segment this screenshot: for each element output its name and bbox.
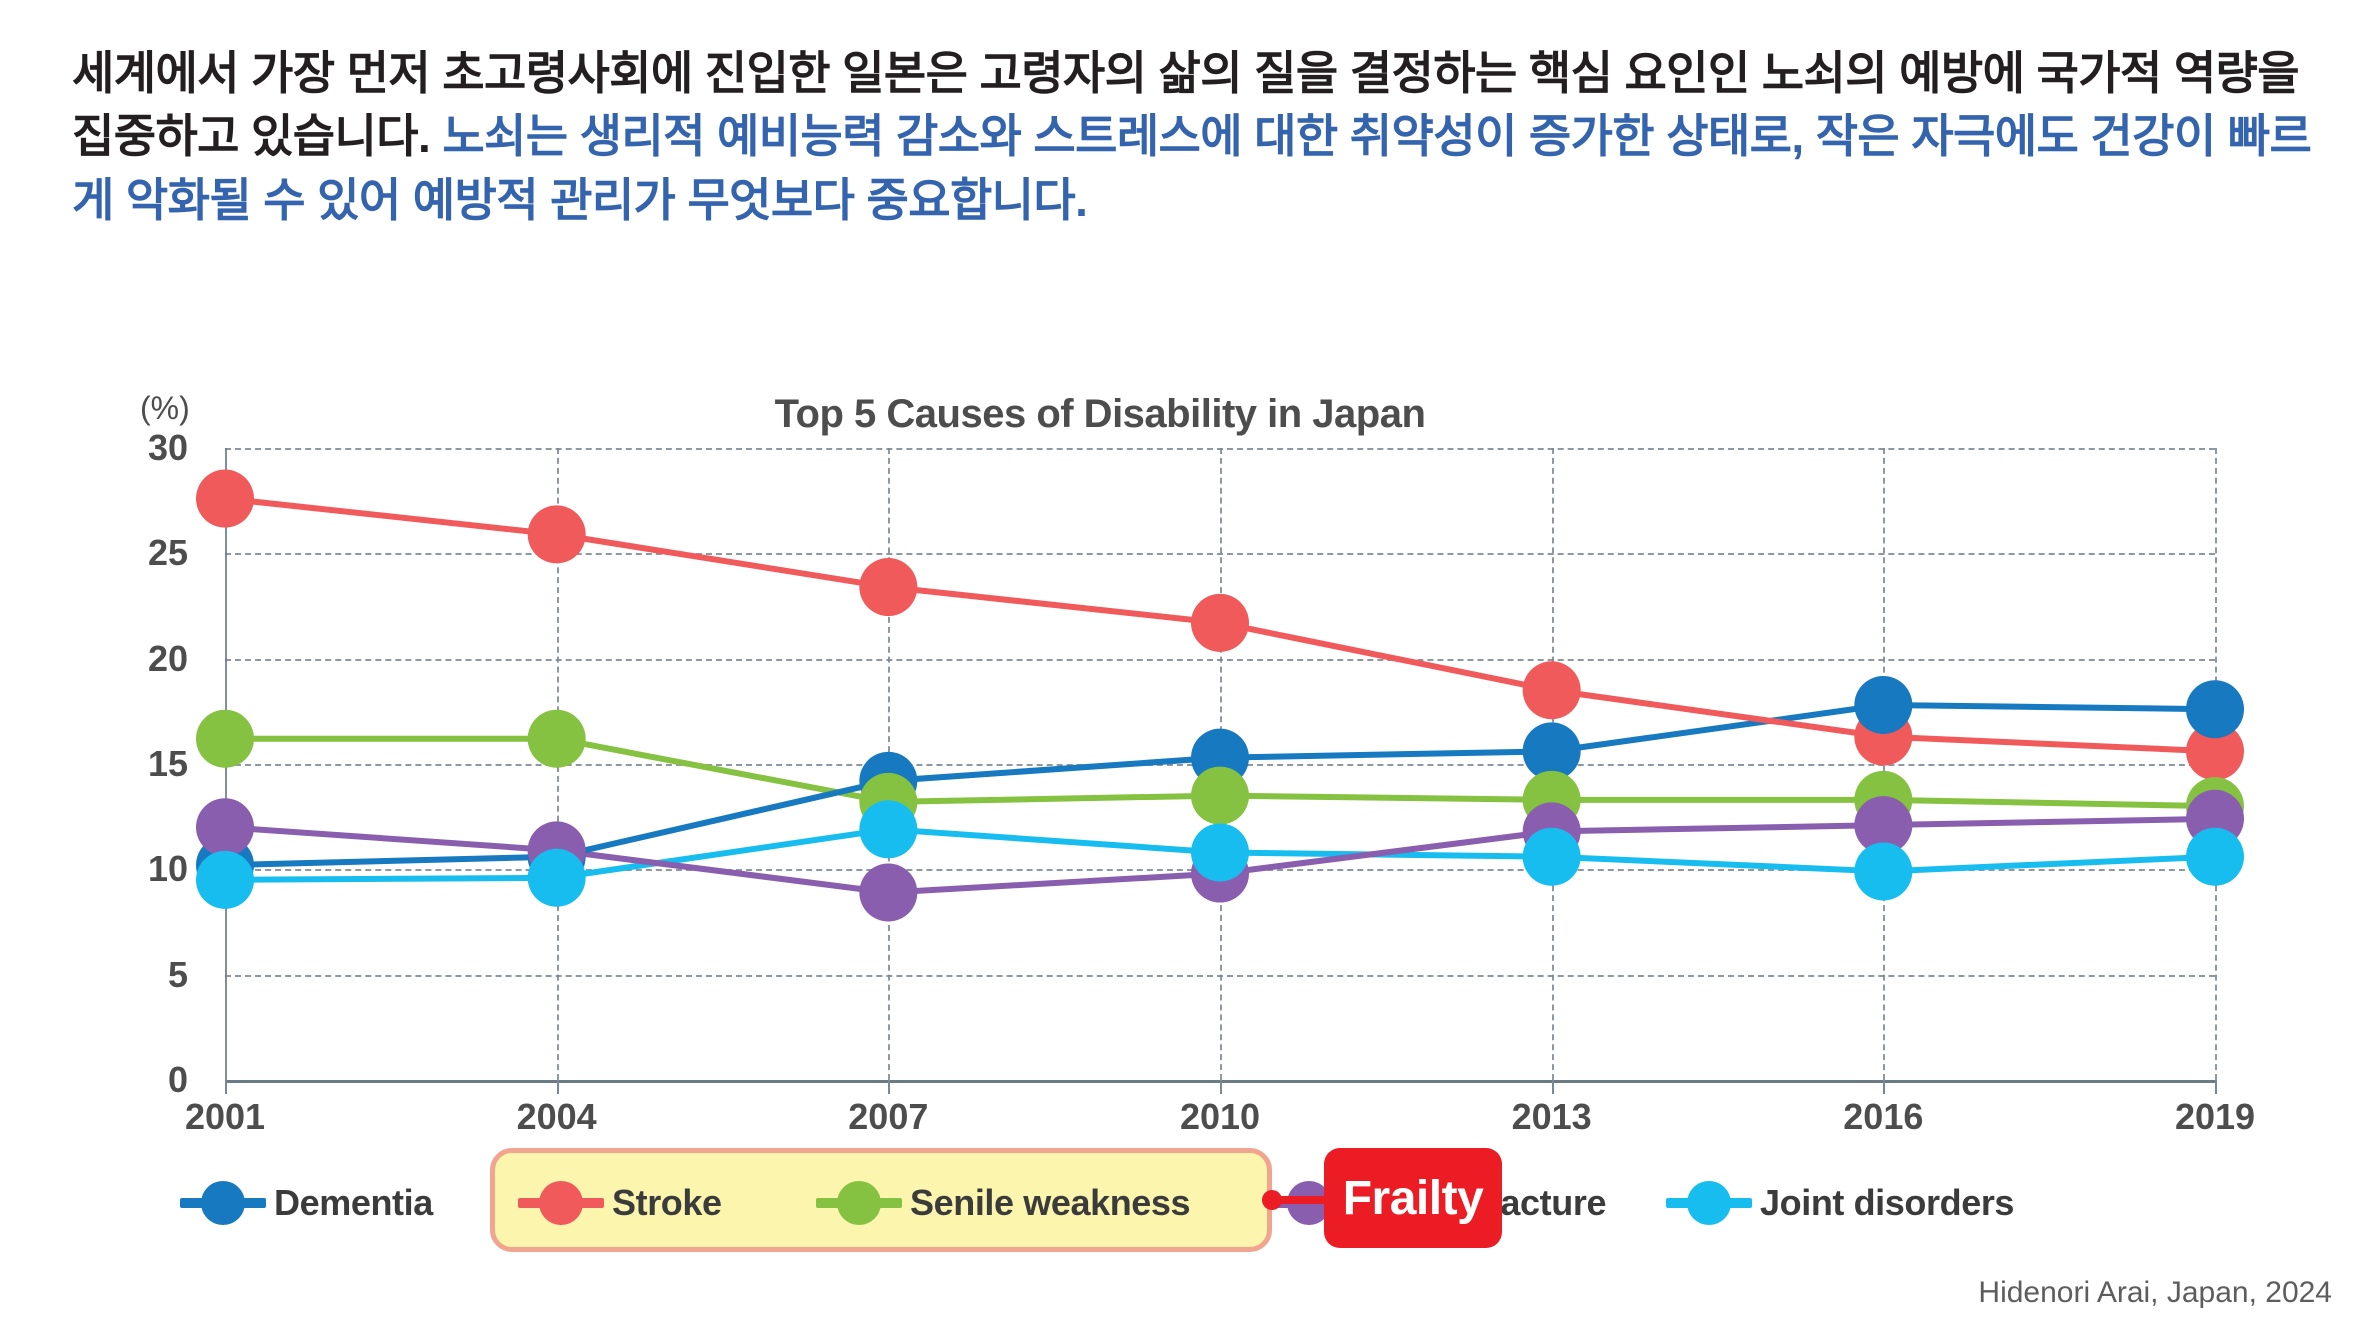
x-tick-mark-2007 [888,1080,890,1094]
data-point-stroke-2004 [528,505,586,563]
x-tick-label-2016: 2016 [1773,1096,1993,1138]
data-point-stroke-2010 [1191,594,1249,652]
data-point-joint-disorders-2010 [1191,823,1249,881]
data-point-stroke-2007 [859,558,917,616]
x-tick-label-2010: 2010 [1110,1096,1330,1138]
x-tick-mark-2019 [2215,1080,2217,1094]
data-point-dementia-2019 [2186,680,2244,738]
legend-marker-icon-dementia [180,1180,266,1226]
y-tick-label-25: 25 [68,532,188,574]
y-tick-label-5: 5 [68,954,188,996]
data-point-stroke-2001 [196,470,254,528]
legend-item-stroke[interactable]: Stroke [518,1155,722,1251]
legend-item-joint-disorders[interactable]: Joint disorders [1666,1155,2014,1251]
legend-label-joint-disorders: Joint disorders [1760,1182,2014,1224]
data-point-senile-weakness-2001 [196,710,254,768]
headline-paragraph: 세계에서 가장 먼저 초고령사회에 진입한 일본은 고령자의 삶의 질을 결정하… [72,42,2322,232]
x-tick-label-2001: 2001 [115,1096,335,1138]
data-point-joint-disorders-2013 [1523,828,1581,886]
legend-item-senile-weakness[interactable]: Senile weakness [816,1155,1190,1251]
x-tick-mark-2016 [1883,1080,1885,1094]
data-point-stroke-2013 [1523,661,1581,719]
data-point-fall-fracture-2001 [196,798,254,856]
data-point-joint-disorders-2019 [2186,828,2244,886]
legend-marker-icon-joint-disorders [1666,1180,1752,1226]
x-tick-label-2013: 2013 [1442,1096,1662,1138]
data-point-joint-disorders-2016 [1854,842,1912,900]
x-tick-mark-2004 [557,1080,559,1094]
x-tick-mark-2001 [225,1080,227,1094]
legend-item-dementia[interactable]: Dementia [180,1155,433,1251]
frailty-connector-line [1268,1196,1330,1204]
legend-marker-icon-stroke [518,1180,604,1226]
legend-marker-icon-senile-weakness [816,1180,902,1226]
data-point-senile-weakness-2004 [528,710,586,768]
data-point-joint-disorders-2004 [528,849,586,907]
chart-legend: DementiaStrokeSenile weaknessFall & Frac… [180,1155,2140,1251]
legend-label-stroke: Stroke [612,1182,722,1224]
data-point-joint-disorders-2007 [859,800,917,858]
source-attribution: Hidenori Arai, Japan, 2024 [1978,1276,2332,1310]
y-tick-label-0: 0 [68,1059,188,1101]
x-tick-mark-2010 [1220,1080,1222,1094]
x-tick-label-2019: 2019 [2105,1096,2325,1138]
data-point-senile-weakness-2010 [1191,767,1249,825]
y-tick-label-30: 30 [68,427,188,469]
x-tick-mark-2013 [1552,1080,1554,1094]
legend-label-dementia: Dementia [274,1182,433,1224]
y-tick-label-15: 15 [68,743,188,785]
frailty-badge: Frailty [1324,1148,1502,1248]
x-tick-label-2004: 2004 [447,1096,667,1138]
legend-label-senile-weakness: Senile weakness [910,1182,1190,1224]
data-point-dementia-2016 [1854,676,1912,734]
data-point-fall-fracture-2007 [859,864,917,922]
x-tick-label-2007: 2007 [778,1096,998,1138]
data-point-joint-disorders-2001 [196,851,254,909]
y-tick-label-10: 10 [68,848,188,890]
y-tick-label-20: 20 [68,638,188,680]
